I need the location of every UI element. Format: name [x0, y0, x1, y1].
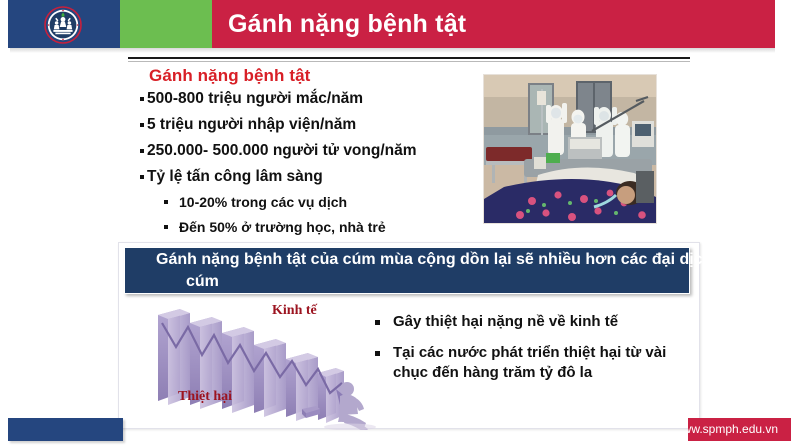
list-item: Tại các nước phát triển thiệt hại từ vài…: [375, 343, 675, 383]
title-divider-light: [128, 61, 690, 62]
list-item: 250.000- 500.000 người tử vong/năm: [140, 141, 475, 160]
header-green-block: [120, 0, 212, 48]
slide-canvas: Gánh nặng bệnh tật Gánh nặng bệnh tật 50…: [0, 0, 791, 446]
panel-banner-label: Gánh nặng bệnh tật của cúm mùa cộng dồn …: [148, 249, 716, 293]
hospital-icu-photo: [483, 74, 657, 224]
page-title: Gánh nặng bệnh tật: [228, 8, 748, 40]
sub-list-item-label: Đến 50% ở trường học, nhà trẻ: [179, 218, 386, 236]
sub-list-item-label: 10-20% trong các vụ dịch: [179, 193, 347, 211]
chart-label-economy: Kinh tế: [272, 303, 317, 319]
bullet-list-panel: Gây thiệt hại nặng nề về kinh tế Tại các…: [375, 312, 675, 394]
economy-decline-chart: [150, 305, 380, 430]
list-item-label: 250.000- 500.000 người tử vong/năm: [147, 141, 417, 160]
bullet-list-primary: 500-800 triệu người mắc/năm 5 triệu ngườ…: [140, 89, 475, 236]
footer-navy-block: [8, 418, 123, 441]
list-item: 500-800 triệu người mắc/năm: [140, 89, 475, 108]
bullet-square-icon: [140, 123, 144, 127]
footer-url-bar: www.spmph.edu.vn: [688, 418, 791, 441]
list-item-label: Tỷ lệ tấn công lâm sàng: [147, 167, 323, 186]
list-item-label: 5 triệu người nhập viện/năm: [147, 115, 356, 134]
section-heading: Gánh nặng bệnh tật: [149, 66, 310, 86]
footer-url-label: www.spmph.edu.vn: [688, 422, 778, 436]
header-navy-block: [8, 0, 120, 48]
list-item-label: 500-800 triệu người mắc/năm: [147, 89, 363, 108]
bullet-square-icon: [375, 351, 380, 356]
bullet-square-icon: [140, 175, 144, 179]
sub-list-item: 10-20% trong các vụ dịch: [164, 193, 475, 211]
list-item-label: Tại các nước phát triển thiệt hại từ vài…: [393, 343, 675, 383]
title-divider: [128, 57, 690, 59]
bullet-square-icon: [140, 149, 144, 153]
bullet-square-icon: [164, 225, 168, 229]
list-item: 5 triệu người nhập viện/năm: [140, 115, 475, 134]
list-item: Gây thiệt hại nặng nề về kinh tế: [375, 312, 675, 332]
bullet-square-icon: [164, 200, 168, 204]
header-shadow: [10, 48, 775, 53]
chart-label-damage: Thiệt hại: [178, 389, 232, 405]
list-item-label: Gây thiệt hại nặng nề về kinh tế: [393, 312, 618, 332]
spmph-emblem-icon: [44, 6, 82, 44]
bullet-square-icon: [140, 97, 144, 101]
list-item: Tỷ lệ tấn công lâm sàng: [140, 167, 475, 186]
sub-list-item: Đến 50% ở trường học, nhà trẻ: [164, 218, 475, 236]
bullet-square-icon: [375, 320, 380, 325]
